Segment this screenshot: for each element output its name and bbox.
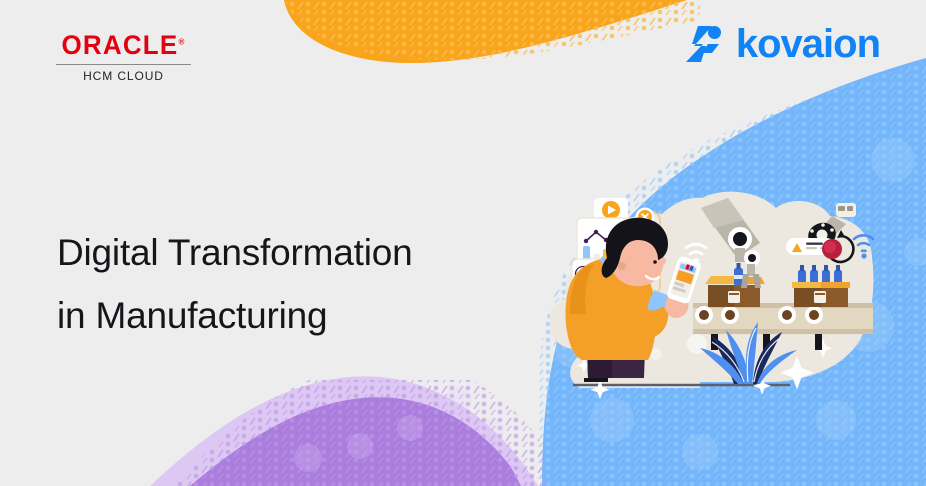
oracle-subtitle: HCM CLOUD (56, 70, 191, 82)
registered-mark-icon: ® (178, 37, 185, 46)
oracle-divider (56, 64, 191, 65)
kovaion-wordmark: kovaion (736, 24, 880, 64)
banner-canvas: ORACLE® HCM CLOUD kovaion Digital Transf… (0, 0, 926, 486)
page-title: Digital Transformation in Manufacturing (57, 221, 527, 347)
page-title-line-1: Digital Transformation (57, 221, 527, 284)
wifi-icon-blue-dot (861, 253, 866, 258)
kovaion-logo[interactable]: kovaion (682, 22, 880, 66)
oracle-wordmark: ORACLE® (56, 32, 191, 59)
oracle-hcm-cloud-logo[interactable]: ORACLE® HCM CLOUD (56, 32, 191, 82)
page-title-line-2: in Manufacturing (57, 284, 527, 347)
kovaion-k-mark-icon (682, 22, 726, 66)
